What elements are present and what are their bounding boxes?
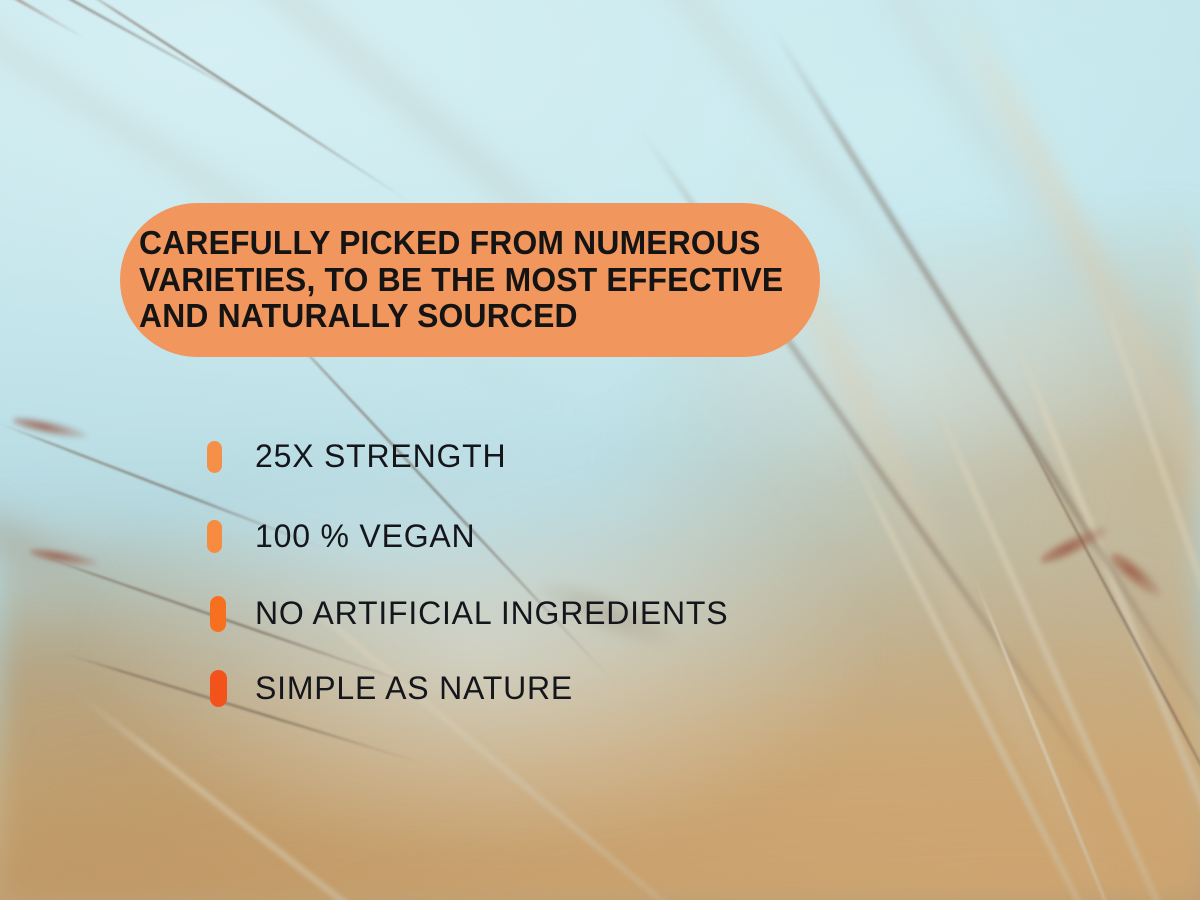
headline-text: CAREFULLY PICKED FROM NUMEROUS VARIETIES… bbox=[139, 225, 783, 335]
grass-stems-near bbox=[0, 0, 1200, 900]
feature-bullet-icon bbox=[207, 520, 222, 553]
feature-bullet-icon bbox=[210, 670, 227, 707]
feature-label: 25X STRENGTH bbox=[255, 438, 506, 475]
feature-label: NO ARTIFICIAL INGREDIENTS bbox=[255, 595, 728, 632]
feature-item: NO ARTIFICIAL INGREDIENTS bbox=[200, 595, 728, 632]
feature-bullet-icon bbox=[207, 441, 222, 473]
feature-item: 25X STRENGTH bbox=[200, 438, 506, 475]
headline-banner: CAREFULLY PICKED FROM NUMEROUS VARIETIES… bbox=[120, 203, 820, 357]
feature-label: SIMPLE AS NATURE bbox=[255, 670, 573, 707]
feature-bullet-icon bbox=[210, 596, 226, 632]
feature-item: SIMPLE AS NATURE bbox=[200, 670, 573, 707]
promo-slide: CAREFULLY PICKED FROM NUMEROUS VARIETIES… bbox=[0, 0, 1200, 900]
feature-label: 100 % VEGAN bbox=[255, 518, 475, 555]
feature-item: 100 % VEGAN bbox=[200, 518, 475, 555]
